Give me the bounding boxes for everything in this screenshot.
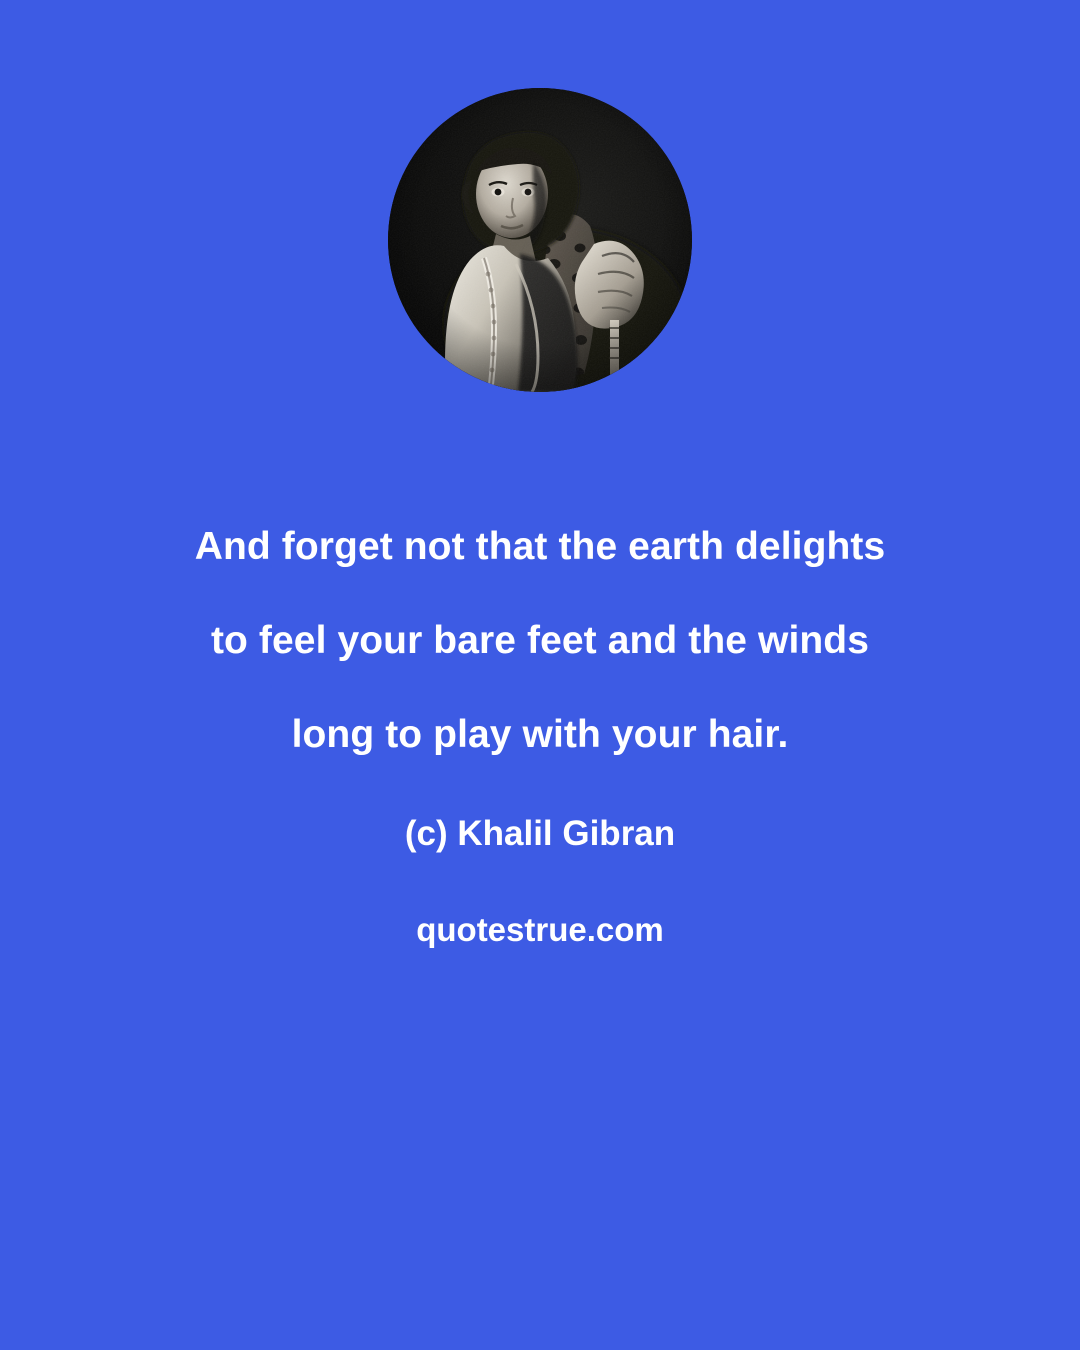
portrait-photo-icon xyxy=(388,88,692,392)
quote-line: to feel your bare feet and the winds xyxy=(60,594,1020,688)
quote-card: And forget not that the earth delights t… xyxy=(0,0,1080,1350)
quote-line: And forget not that the earth delights xyxy=(60,500,1020,594)
quote-line: long to play with your hair. xyxy=(60,688,1020,782)
quote-text-block: And forget not that the earth delights t… xyxy=(60,500,1020,960)
author-portrait xyxy=(388,88,692,392)
source-website: quotestrue.com xyxy=(60,900,1020,960)
portrait-container xyxy=(388,88,692,392)
quote-attribution: (c) Khalil Gibran xyxy=(60,804,1020,864)
quote-text: And forget not that the earth delights t… xyxy=(60,500,1020,782)
